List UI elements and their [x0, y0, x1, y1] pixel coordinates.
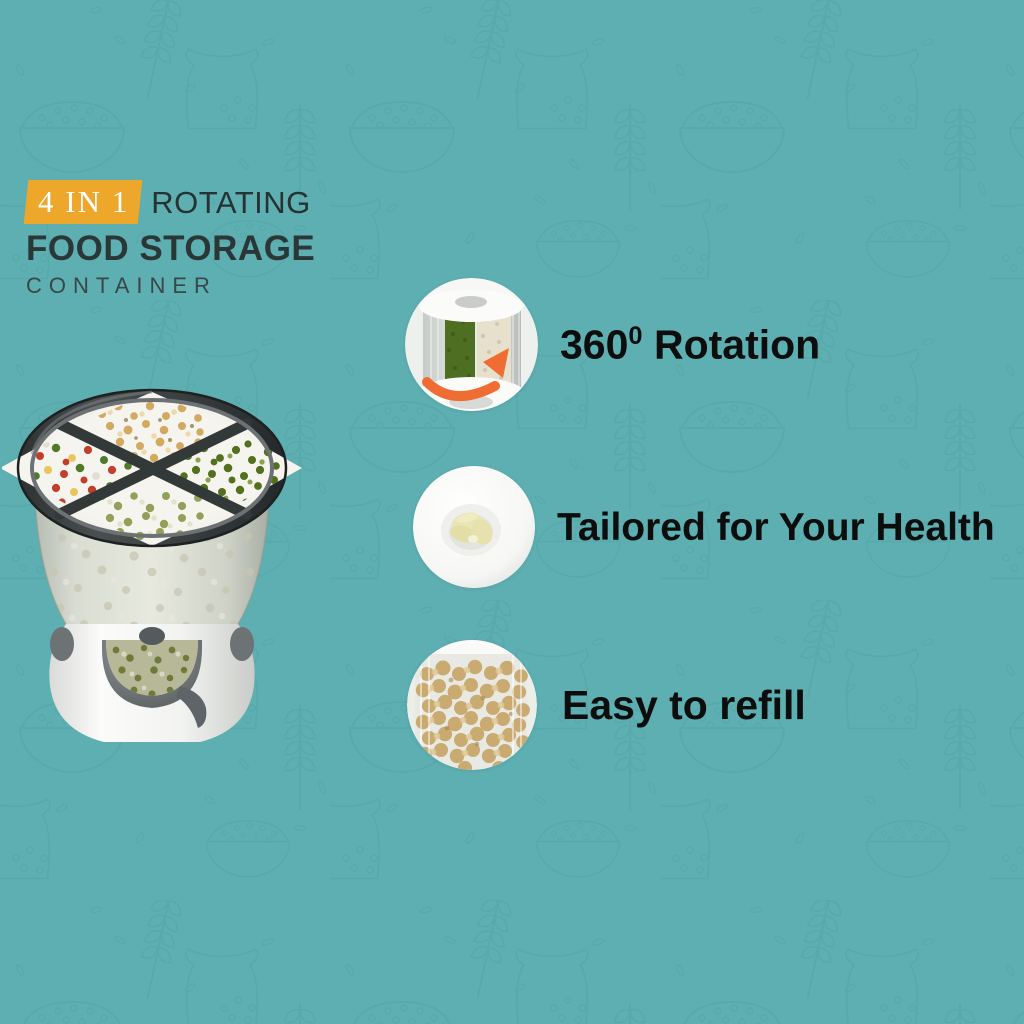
title-line-1: 4 IN 1 ROTATING	[26, 182, 315, 222]
feature-health-label: Tailored for Your Health	[557, 508, 995, 547]
feature-health: Tailored for Your Health	[413, 466, 995, 588]
infographic-canvas: 4 IN 1 ROTATING FOOD STORAGE CONTAINER	[0, 0, 1024, 1024]
feature-rotation: 3600 Rotation	[405, 278, 820, 411]
four-in-one-badge: 4 IN 1	[24, 180, 143, 224]
rotation-thumbnail	[405, 278, 538, 411]
health-thumbnail	[413, 466, 535, 588]
feature-refill: Easy to refill	[407, 640, 806, 770]
refill-thumbnail	[407, 640, 537, 770]
feature-refill-label: Easy to refill	[562, 685, 806, 726]
title-rotating-word: ROTATING	[151, 187, 311, 218]
product-image	[2, 368, 302, 763]
title-block: 4 IN 1 ROTATING FOOD STORAGE CONTAINER	[26, 182, 315, 297]
title-container: CONTAINER	[26, 275, 315, 297]
four-in-one-badge-label: 4 IN 1	[38, 186, 129, 217]
title-food-storage: FOOD STORAGE	[26, 231, 315, 266]
feature-rotation-label: 3600 Rotation	[560, 324, 820, 366]
